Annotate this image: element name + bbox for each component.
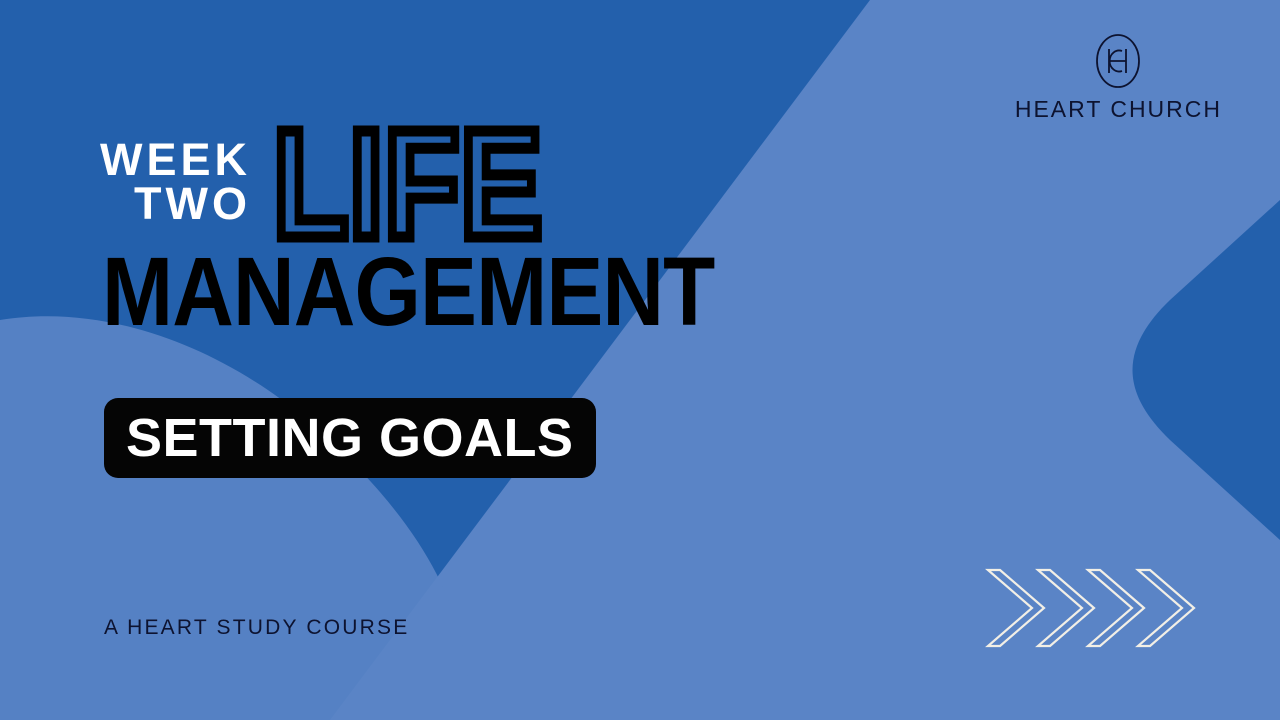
week-label-line-2: TWO [134,182,251,226]
brand-name: HEART CHURCH [1015,98,1222,121]
heart-church-hc-monogram-icon [1092,30,1144,92]
footer-tagline: A HEART STUDY COURSE [104,617,409,638]
chevron-icon-4 [1138,570,1194,646]
headline-block: WEEK TWO LIFE MANAGEMENT [100,132,798,335]
title-row-primary: WEEK TWO LIFE [100,132,798,244]
chevron-icon-3 [1088,570,1144,646]
presentation-slide: HEART CHURCH WEEK TWO LIFE MANAGEMENT SE… [0,0,1280,720]
subtitle-badge: SETTING GOALS [104,398,596,478]
subtitle-badge-label: SETTING GOALS [126,411,574,465]
title-outline-word: LIFE [273,124,543,244]
title-solid-word: MANAGEMENT [102,248,714,335]
brand-lockup: HEART CHURCH [1015,30,1222,121]
chevron-icon-2 [1038,570,1094,646]
week-label-stack: WEEK TWO [100,132,251,226]
chevron-arrows-ornament [980,558,1210,658]
chevron-icon-1 [988,570,1044,646]
week-label-line-1: WEEK [100,138,251,182]
